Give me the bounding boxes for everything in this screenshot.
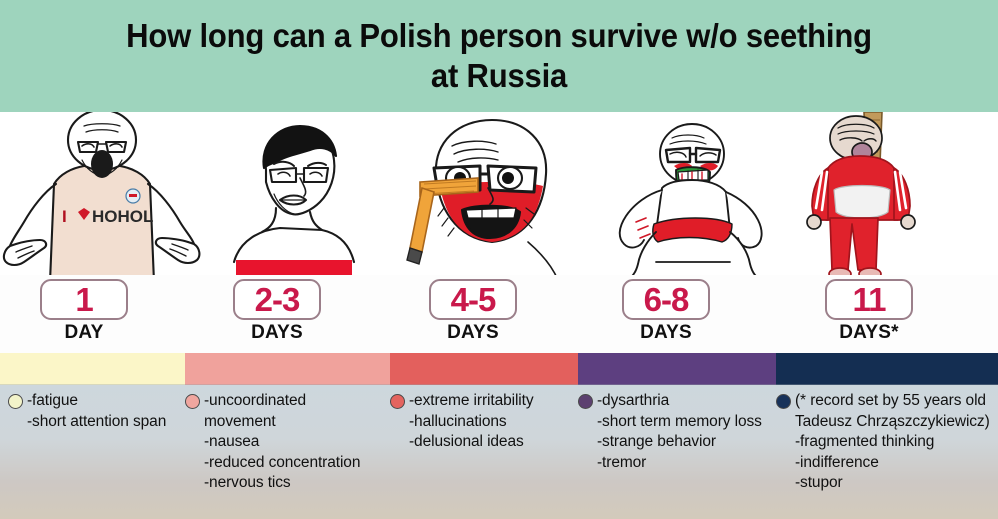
symptom-text-3: -extreme irritability -hallucinations -d… — [409, 391, 534, 519]
day-labels-row: 1 DAY 2-3 DAYS 4-5 DAYS 6-8 DAYS 11 — [0, 275, 998, 353]
day-badge-1: 1 — [40, 279, 128, 320]
day-cell-3: 4-5 DAYS — [373, 275, 573, 353]
shirt-text-i: I — [62, 207, 67, 226]
figure-raging-wojak — [400, 112, 600, 282]
day-badge-5: 11 — [825, 279, 913, 320]
symptom-column-4: -dysarthria -short term memory loss -str… — [578, 385, 774, 519]
day-badge-3: 4-5 — [429, 279, 517, 320]
symptom-text-5: (* record set by 55 years old Tadeusz Ch… — [795, 391, 998, 519]
symptom-column-3: -extreme irritability -hallucinations -d… — [390, 385, 575, 519]
symptom-text-2: -uncoordinated movement -nausea -reduced… — [204, 391, 375, 519]
shirt-text-hohol: HOHOL — [92, 207, 153, 226]
day-cell-2: 2-3 DAYS — [177, 275, 377, 353]
symptom-text-1: -fatigue -short attention span — [27, 391, 166, 519]
legend-dot-1 — [8, 394, 23, 409]
gradient-segment-4 — [578, 353, 776, 385]
symptom-column-5: (* record set by 55 years old Tadeusz Ch… — [776, 385, 998, 519]
legend-dot-5 — [776, 394, 791, 409]
day-number-1: 1 — [75, 283, 92, 316]
gradient-segment-2 — [185, 353, 390, 385]
day-number-2: 2-3 — [255, 283, 300, 316]
figure-shrugging-wojak: I HOHOL — [2, 112, 202, 282]
figure-crouching-wojak — [592, 112, 792, 282]
severity-gradient-bar — [0, 353, 998, 385]
day-number-3: 4-5 — [451, 283, 496, 316]
day-number-5: 11 — [853, 283, 886, 316]
symptom-column-2: -uncoordinated movement -nausea -reduced… — [185, 385, 375, 519]
legend-dot-4 — [578, 394, 593, 409]
legend-dot-3 — [390, 394, 405, 409]
symptoms-row: -fatigue -short attention span -uncoordi… — [0, 385, 998, 519]
day-unit-3: DAYS — [447, 322, 499, 344]
header-banner: How long can a Polish person survive w/o… — [0, 0, 998, 112]
figures-strip: I HOHOL — [0, 112, 998, 282]
day-unit-4: DAYS — [640, 322, 692, 344]
day-badge-4: 6-8 — [622, 279, 710, 320]
page-title: How long can a Polish person survive w/o… — [114, 16, 885, 97]
day-number-4: 6-8 — [644, 283, 689, 316]
day-cell-1: 1 DAY — [0, 275, 184, 353]
infographic-root: How long can a Polish person survive w/o… — [0, 0, 998, 519]
symptom-text-4: -dysarthria -short term memory loss -str… — [597, 391, 762, 519]
legend-dot-2 — [185, 394, 200, 409]
day-unit-5: DAYS* — [839, 322, 898, 344]
day-cell-5: 11 DAYS* — [769, 275, 969, 353]
symptom-column-1: -fatigue -short attention span — [8, 385, 198, 519]
figure-annoyed-wojak — [200, 112, 400, 282]
figure-tracksuit-wojak — [800, 112, 998, 282]
day-cell-4: 6-8 DAYS — [566, 275, 766, 353]
day-unit-1: DAY — [65, 322, 104, 344]
gradient-segment-1 — [0, 353, 185, 385]
day-unit-2: DAYS — [251, 322, 303, 344]
gradient-segment-5 — [776, 353, 998, 385]
gradient-segment-3 — [390, 353, 578, 385]
day-badge-2: 2-3 — [233, 279, 321, 320]
